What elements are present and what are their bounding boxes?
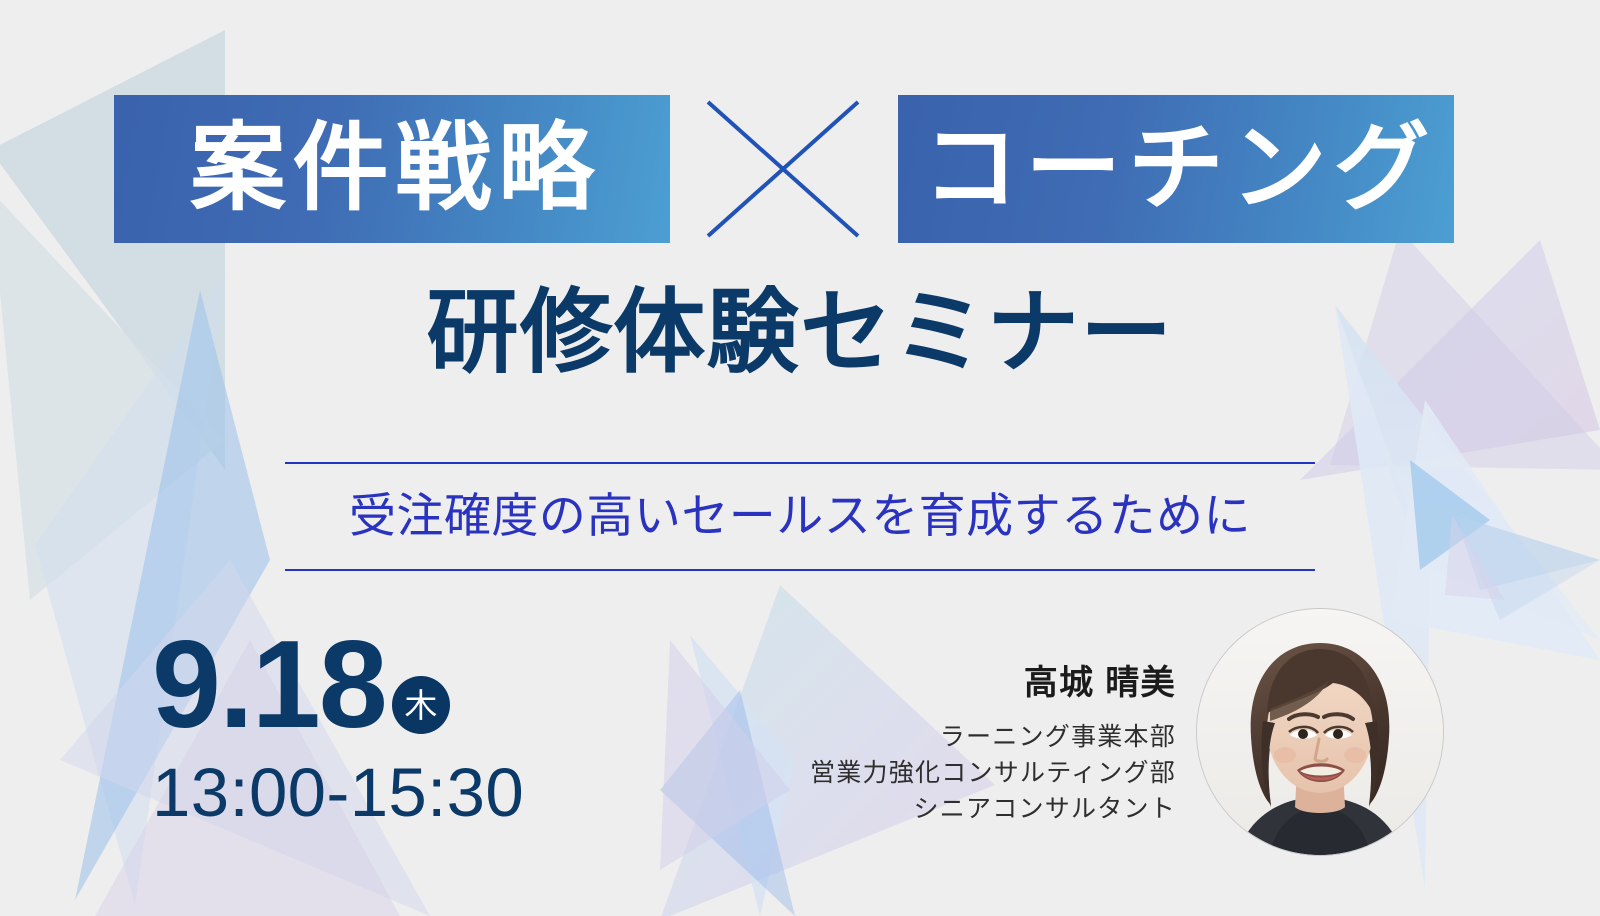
subtitle-rule-bottom [285,569,1315,571]
speaker-name: 高城 晴美 [800,662,1176,705]
x-cross-icon [702,96,864,242]
speaker-affiliation-line-2: 営業力強化コンサルティング部 [800,755,1176,791]
speaker-affiliation-line-1: ラーニング事業本部 [800,719,1176,755]
speaker-affiliation-line-3: シニアコンサルタント [800,791,1176,827]
subtitle-text: 受注確度の高いセールスを育成するために [285,464,1315,569]
event-date-line: 9.18 木 [152,628,524,742]
weekday-badge: 木 [392,676,450,734]
avatar [1197,609,1443,855]
event-time: 13:00-15:30 [152,758,524,827]
badge-keyword-left: 案件戦略 [114,95,670,243]
seminar-banner: 案件戦略 コーチング 研修体験セミナー 受注確度の高いセールスを育成するために … [0,0,1600,916]
badge-left-label: 案件戦略 [183,121,601,217]
event-date: 9.18 [152,628,386,742]
subtitle-block: 受注確度の高いセールスを育成するために [285,462,1315,571]
speaker-portrait [1196,608,1444,856]
event-datetime-block: 9.18 木 13:00-15:30 [152,628,524,827]
speaker-block: 高城 晴美 ラーニング事業本部 営業力強化コンサルティング部 シニアコンサルタン… [800,662,1176,827]
badge-keyword-right: コーチング [898,95,1454,243]
badge-right-label: コーチング [916,121,1436,217]
page-title: 研修体験セミナー [0,281,1600,387]
